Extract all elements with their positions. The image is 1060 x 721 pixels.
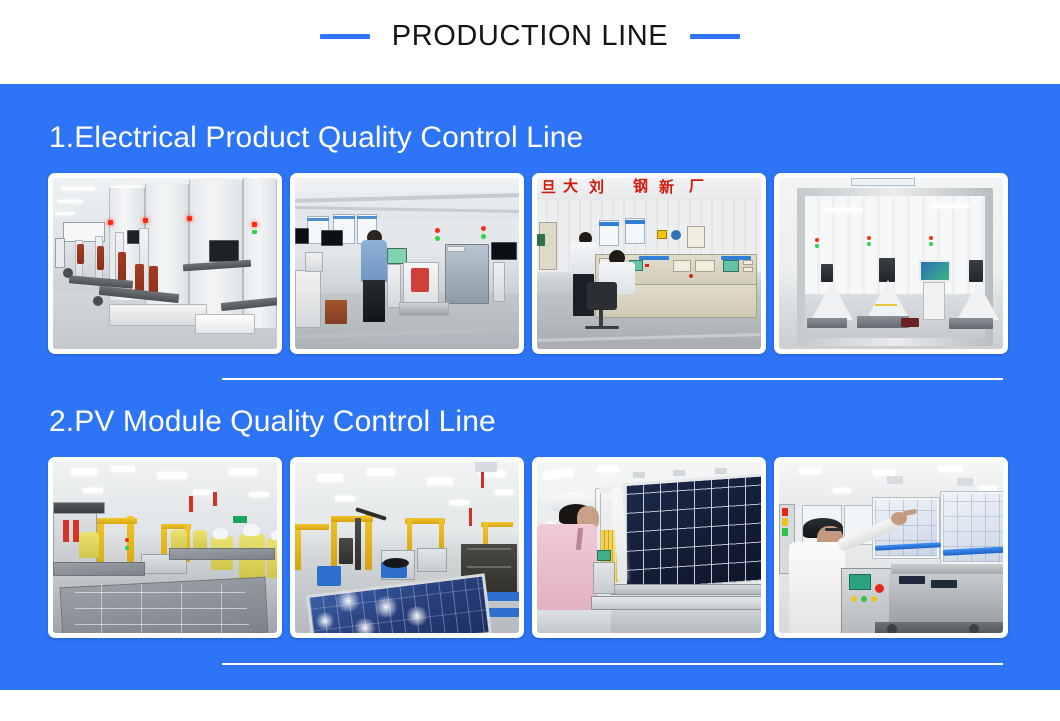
photo-card-pv-3[interactable]: [532, 457, 766, 638]
photo-row-electrical: 旦 大 刘 钢 新 厂: [48, 173, 1006, 354]
photo-control-console-operators: 旦 大 刘 钢 新 厂: [537, 178, 761, 349]
title-dash-left-icon: [320, 34, 370, 39]
photo-test-chamber: [779, 178, 1003, 349]
page-bottom-spacer: [0, 690, 1060, 721]
photo-pv-assembly-line: [53, 462, 277, 633]
photo-card-electrical-2[interactable]: [290, 173, 524, 354]
section-heading-electrical: 1.Electrical Product Quality Control Lin…: [49, 121, 583, 155]
photo-electrical-bays: [53, 178, 277, 349]
photo-poly-panel-line: [295, 462, 519, 633]
photo-card-electrical-3[interactable]: 旦 大 刘 钢 新 厂: [532, 173, 766, 354]
photo-module-inspection: [537, 462, 761, 633]
photo-technician-test-station: [295, 178, 519, 349]
production-line-page: PRODUCTION LINE 1.Electrical Product Qua…: [0, 0, 1060, 721]
title-row: PRODUCTION LINE: [320, 20, 740, 53]
photo-card-pv-1[interactable]: [48, 457, 282, 638]
title-dash-right-icon: [690, 34, 740, 39]
section-heading-pv: 2.PV Module Quality Control Line: [49, 405, 496, 439]
divider-after-section-1: [222, 378, 1003, 380]
photo-card-pv-4[interactable]: [774, 457, 1008, 638]
page-header: PRODUCTION LINE: [0, 0, 1060, 84]
page-title: PRODUCTION LINE: [392, 20, 668, 53]
divider-after-section-2: [222, 663, 1003, 665]
photo-card-pv-2[interactable]: [290, 457, 524, 638]
photo-card-electrical-1[interactable]: [48, 173, 282, 354]
photo-row-pv: [48, 457, 1006, 638]
photo-card-electrical-4[interactable]: [774, 173, 1008, 354]
photo-el-inspection-station: [779, 462, 1003, 633]
